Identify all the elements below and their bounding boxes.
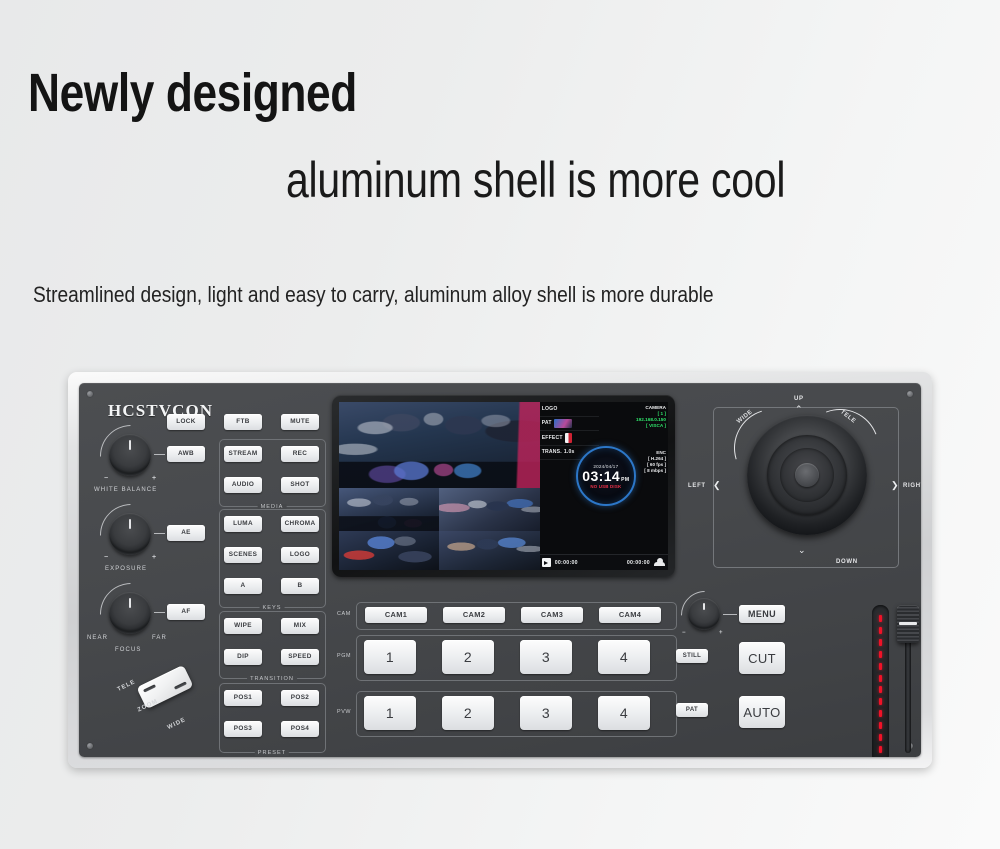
- knob-connector: [154, 612, 165, 613]
- knob-plus-label: +: [719, 630, 723, 636]
- pos4-button[interactable]: POS4: [281, 721, 319, 737]
- chevron-left-icon: ❮: [713, 481, 721, 490]
- fader-handle[interactable]: [897, 605, 919, 643]
- pos2-button[interactable]: POS2: [281, 690, 319, 706]
- pgm-row-label: PGM: [337, 653, 351, 659]
- pvw-1-button[interactable]: 1: [364, 696, 416, 730]
- clock-time: 03:14PM: [582, 469, 629, 483]
- focus-far-label: FAR: [152, 635, 167, 641]
- pgm-1-button[interactable]: 1: [364, 640, 416, 674]
- lcd-row-pat[interactable]: PAT: [540, 417, 599, 432]
- auto-button[interactable]: AUTO: [739, 696, 785, 728]
- enc-bitrate: [ 8 mbps ]: [644, 468, 666, 474]
- camera-ip: 192.168.0.150: [636, 417, 666, 423]
- lcd-info-panel: LOGO PAT EFFECT TRANS.: [540, 402, 668, 570]
- preset-group-label: PRESET: [255, 750, 289, 756]
- lcd-bezel: LOGO PAT EFFECT TRANS.: [332, 395, 675, 577]
- awb-button[interactable]: AWB: [167, 446, 205, 462]
- knob-connector: [154, 454, 165, 455]
- white-balance-label: WHITE BALANCE: [94, 487, 157, 493]
- cam1-button[interactable]: CAM1: [365, 607, 427, 623]
- cam3-button[interactable]: CAM3: [521, 607, 583, 623]
- pvw-2-button[interactable]: 2: [442, 696, 494, 730]
- multiview-pane-5[interactable]: [439, 531, 539, 570]
- cam4-button[interactable]: CAM4: [599, 607, 661, 623]
- lcd-trans-label: TRANS.: [542, 449, 562, 455]
- knob-minus-label: −: [104, 554, 108, 561]
- pat-thumbnail: [554, 419, 572, 428]
- multiview-area: [339, 402, 540, 570]
- multiview-pane-4[interactable]: [339, 531, 439, 570]
- af-button[interactable]: AF: [167, 604, 205, 620]
- audio-button[interactable]: AUDIO: [224, 477, 262, 493]
- knob-plus-label: +: [152, 475, 156, 482]
- still-button[interactable]: STILL: [676, 649, 708, 663]
- luma-button[interactable]: LUMA: [224, 516, 262, 532]
- lcd-status-bar: 00:00:00 00:00:00: [540, 554, 668, 570]
- pvw-4-button[interactable]: 4: [598, 696, 650, 730]
- pos1-button[interactable]: POS1: [224, 690, 262, 706]
- play-icon[interactable]: [542, 558, 551, 567]
- lcd-logo-label: LOGO: [542, 406, 558, 412]
- exposure-label: EXPOSURE: [105, 566, 147, 572]
- transition-group-label: TRANSITION: [247, 676, 297, 682]
- lcd-pat-label: PAT: [542, 420, 552, 426]
- scenes-button[interactable]: SCENES: [224, 547, 262, 563]
- knob-minus-label: −: [682, 630, 686, 636]
- video-switcher-device: HCSTVCON − + WHITE BALANCE − + EXPOSURE: [68, 372, 932, 768]
- effect-thumbnail: [565, 433, 572, 443]
- focus-near-label: NEAR: [87, 635, 108, 641]
- lcd-row-effect[interactable]: EFFECT: [540, 431, 599, 446]
- dip-button[interactable]: DIP: [224, 649, 262, 665]
- ftb-button[interactable]: FTB: [224, 414, 262, 430]
- ae-button[interactable]: AE: [167, 525, 205, 541]
- chevron-up-icon: ⌃: [795, 405, 803, 414]
- zoom-tele-label: TELE: [117, 679, 137, 693]
- lcd-screen[interactable]: LOGO PAT EFFECT TRANS.: [339, 402, 668, 570]
- camera-protocol: [ VISCA ]: [636, 423, 666, 429]
- pvw-3-button[interactable]: 3: [520, 696, 572, 730]
- pat-button[interactable]: PAT: [676, 703, 708, 717]
- zoom-wide-label: WIDE: [167, 717, 187, 731]
- chevron-down-icon: ⌄: [798, 546, 806, 555]
- mix-button[interactable]: MIX: [281, 618, 319, 634]
- knob-connector: [723, 614, 737, 615]
- screw-icon: [87, 743, 93, 749]
- tbar-led-strip: [872, 605, 889, 757]
- white-balance-knob[interactable]: [109, 434, 151, 476]
- chevron-right-icon: ❯: [891, 481, 899, 490]
- headline-line-1: Newly designed: [28, 66, 357, 120]
- cloud-icon: [654, 560, 665, 566]
- focus-label: FOCUS: [115, 647, 142, 653]
- promo-page: Newly designed aluminum shell is more co…: [0, 0, 1000, 849]
- lcd-row-logo[interactable]: LOGO: [540, 402, 599, 417]
- key-a-button[interactable]: A: [224, 578, 262, 594]
- subheadline: Streamlined design, light and easy to ca…: [33, 282, 714, 308]
- lock-button[interactable]: LOCK: [167, 414, 205, 430]
- lcd-effect-label: EFFECT: [542, 435, 563, 441]
- rec-button[interactable]: REC: [281, 446, 319, 462]
- wipe-button[interactable]: WIPE: [224, 618, 262, 634]
- mute-button[interactable]: MUTE: [281, 414, 319, 430]
- multiview-pane-3[interactable]: [439, 488, 539, 531]
- shot-button[interactable]: SHOT: [281, 477, 319, 493]
- focus-knob[interactable]: [109, 592, 151, 634]
- cam-row-label: CAM: [337, 611, 351, 617]
- lcd-camera-block: CAMERA [ 1 ] 192.168.0.150 [ VISCA ]: [636, 405, 666, 429]
- joystick-down-label: DOWN: [836, 559, 858, 565]
- lcd-enc-block: ENC [ H.264 ] [ 60 fps ] [ 8 mbps ]: [644, 450, 666, 474]
- chroma-button[interactable]: CHROMA: [281, 516, 319, 532]
- usb-alert: NO USB DISK: [590, 484, 621, 489]
- device-panel: HCSTVCON − + WHITE BALANCE − + EXPOSURE: [79, 383, 921, 757]
- knob-connector: [154, 533, 165, 534]
- lcd-clock-dial: 2024/04/17 03:14PM NO USB DISK: [576, 446, 636, 506]
- joystick-right-label: RIGHT: [903, 483, 921, 489]
- stream-button[interactable]: STREAM: [224, 446, 262, 462]
- screw-icon: [907, 391, 913, 397]
- key-b-button[interactable]: B: [281, 578, 319, 594]
- screw-icon: [87, 391, 93, 397]
- exposure-knob[interactable]: [109, 513, 151, 555]
- menu-knob[interactable]: [688, 598, 720, 630]
- cam2-button[interactable]: CAM2: [443, 607, 505, 623]
- pvw-row-label: PVW: [337, 709, 351, 715]
- logo-button[interactable]: LOGO: [281, 547, 319, 563]
- speed-button[interactable]: SPEED: [281, 649, 319, 665]
- timecode-left: 00:00:00: [555, 560, 578, 566]
- joystick-up-label: UP: [794, 396, 804, 402]
- knob-minus-label: −: [104, 475, 108, 482]
- knob-plus-label: +: [152, 554, 156, 561]
- cut-button[interactable]: CUT: [739, 642, 785, 674]
- zoom-rocker-switch[interactable]: [136, 665, 193, 709]
- pgm-4-button[interactable]: 4: [598, 640, 650, 674]
- pos3-button[interactable]: POS3: [224, 721, 262, 737]
- lcd-trans-value: 1.0s: [564, 449, 575, 455]
- multiview-pane-1[interactable]: [339, 402, 540, 488]
- tbar-fader[interactable]: [897, 605, 919, 753]
- multiview-pane-2[interactable]: [339, 488, 439, 531]
- timecode-right: 00:00:00: [627, 560, 650, 566]
- multiview-row-3: [339, 531, 540, 570]
- pgm-2-button[interactable]: 2: [442, 640, 494, 674]
- multiview-row-2: [339, 488, 540, 531]
- joystick-left-label: LEFT: [688, 483, 706, 489]
- headline-line-2: aluminum shell is more cool: [286, 155, 785, 205]
- pgm-3-button[interactable]: 3: [520, 640, 572, 674]
- menu-button[interactable]: MENU: [739, 605, 785, 623]
